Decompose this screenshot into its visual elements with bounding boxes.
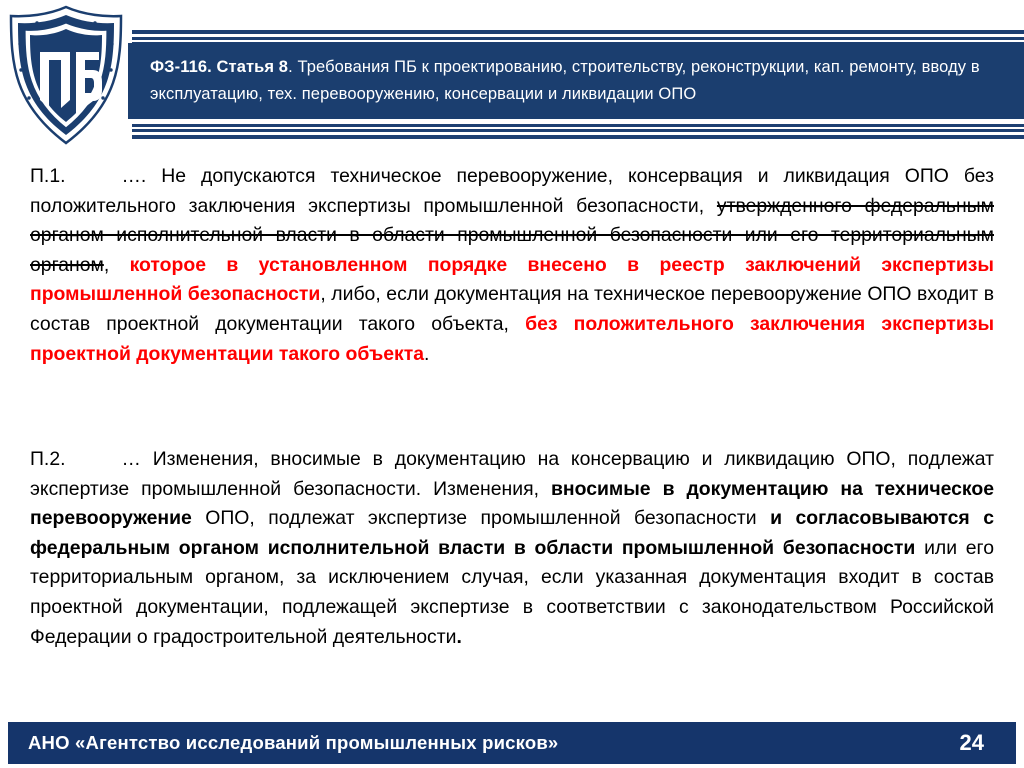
- page-title-law-ref: ФЗ-116. Статья 8: [150, 58, 288, 76]
- paragraph-p2-marker: П.2.: [30, 448, 66, 470]
- paragraph-p2: П.2.… Изменения, вносимые в документацию…: [30, 445, 994, 652]
- header-rule-bottom: [132, 124, 1024, 139]
- paragraph-p1-segment-plain-4: .: [424, 343, 429, 365]
- slide-header: ФЗ-116. Статья 8. Требования ПБ к проект…: [0, 0, 1024, 152]
- footer-organization: АНО «Агентство исследований промышленных…: [8, 732, 558, 754]
- page-title: ФЗ-116. Статья 8. Требования ПБ к проект…: [128, 54, 1024, 108]
- shield-pb-logo: [4, 4, 128, 146]
- paragraph-p2-segment-plain-2: ОПО, подлежат экспертизе промышленной бе…: [192, 507, 770, 529]
- paragraph-p2-segment-period: .: [456, 626, 461, 648]
- slide-content: П.1.…. Не допускаются техническое перево…: [0, 152, 1024, 714]
- paragraph-p1: П.1.…. Не допускаются техническое перево…: [30, 162, 994, 369]
- slide-title-bar: ФЗ-116. Статья 8. Требования ПБ к проект…: [128, 43, 1024, 119]
- footer-page-number: 24: [960, 730, 1016, 756]
- slide-footer: АНО «Агентство исследований промышленных…: [8, 722, 1016, 764]
- paragraph-p1-marker: П.1.: [30, 165, 66, 187]
- paragraph-p1-segment-plain-2: ,: [104, 254, 130, 276]
